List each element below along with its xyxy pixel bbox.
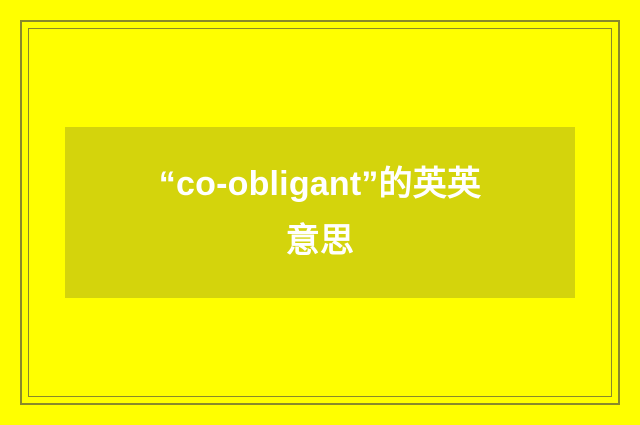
- content-panel: “co-obligant”的英英意思: [65, 127, 575, 298]
- headline-title: “co-obligant”的英英意思: [157, 156, 483, 268]
- poster-canvas: “co-obligant”的英英意思: [0, 0, 640, 425]
